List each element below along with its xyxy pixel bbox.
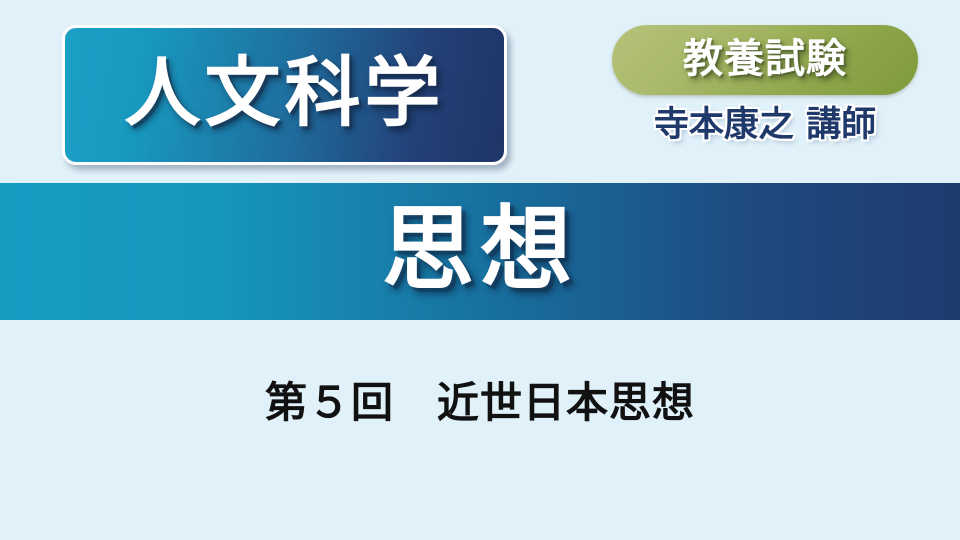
lecturer-name-text: 寺本康之 講師 <box>654 104 876 146</box>
exam-category-label: 教養試験 <box>683 39 847 79</box>
subject-title-box: 人文科学 <box>62 25 507 165</box>
lecturer-name: 寺本康之 講師 <box>612 104 918 146</box>
subject-title-text: 人文科学 <box>125 55 445 131</box>
exam-category-badge: 教養試験 <box>612 25 918 95</box>
topic-band: 思想 <box>0 183 960 320</box>
lesson-heading-text: 第５回 近世日本思想 <box>265 378 695 428</box>
lesson-heading: 第５回 近世日本思想 <box>0 378 960 428</box>
topic-band-text: 思想 <box>382 204 578 296</box>
slide-canvas: 人文科学 教養試験 寺本康之 講師 思想 第５回 近世日本思想 <box>0 0 960 540</box>
